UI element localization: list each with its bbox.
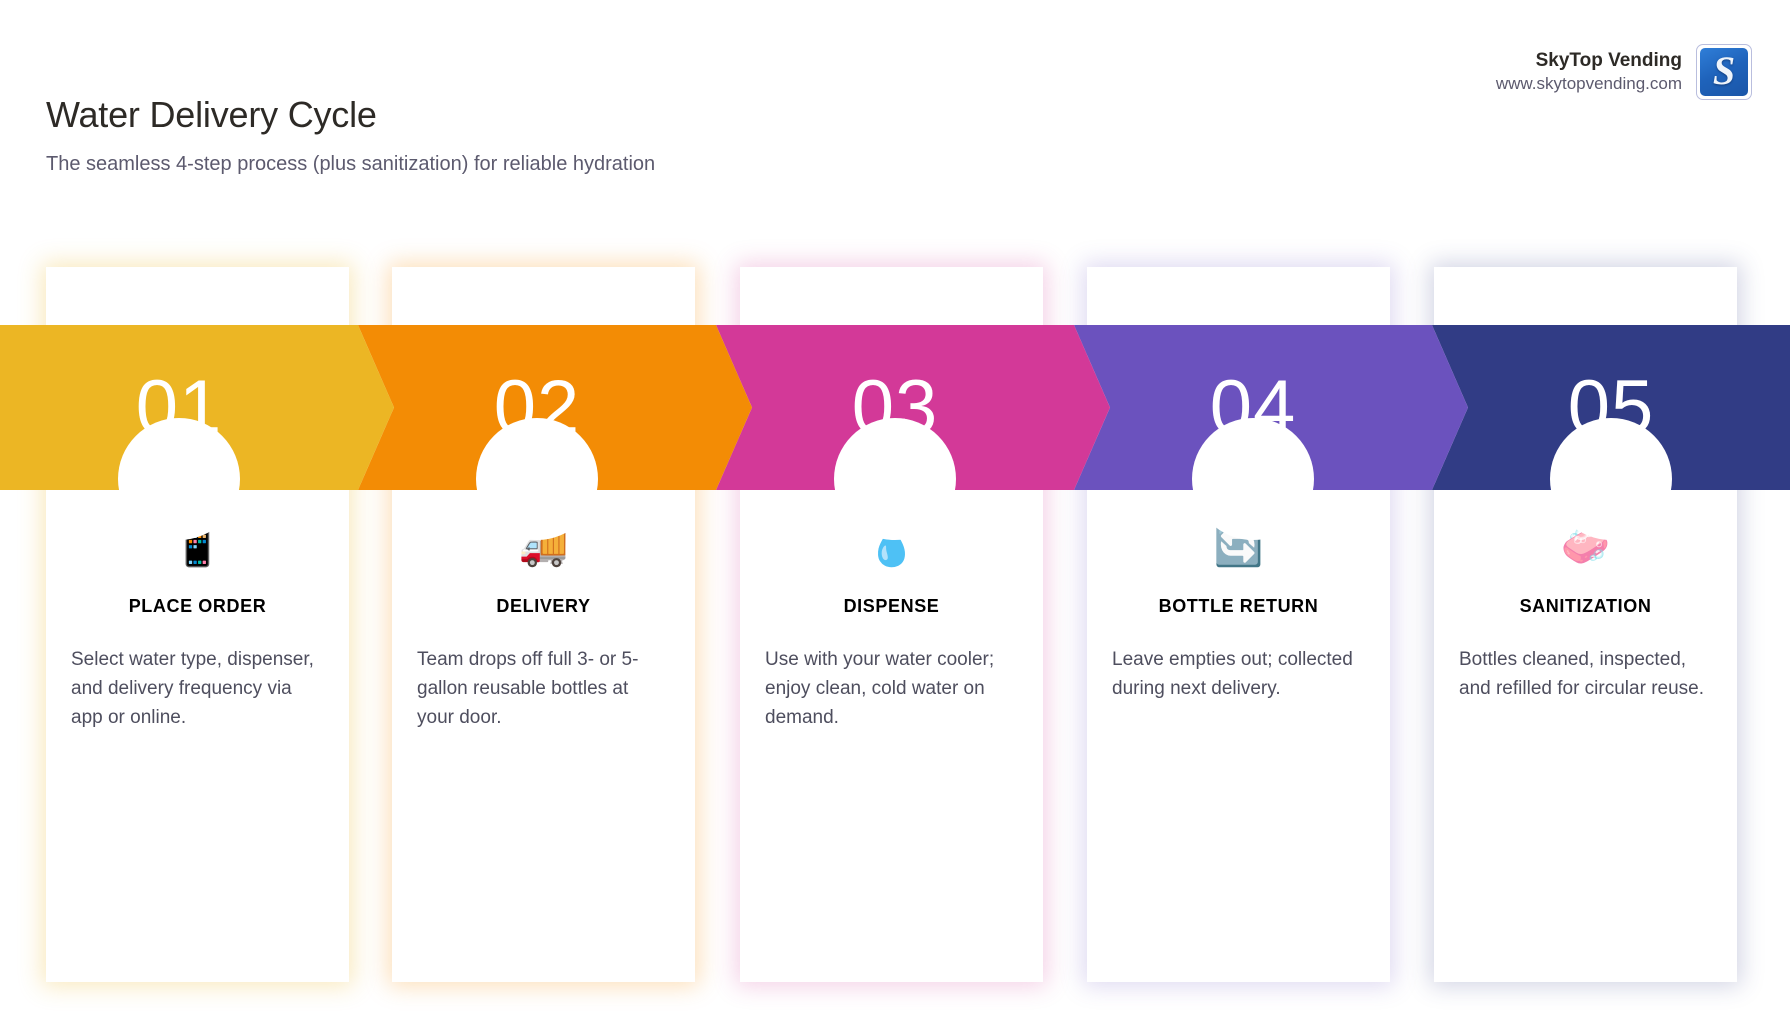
soap-bubbles-icon: 🧼	[1434, 518, 1737, 574]
logo-letter: S	[1713, 51, 1735, 91]
step-card[interactable]: 🚚 DELIVERY Team drops off full 3- or 5-g…	[392, 267, 695, 982]
logo-tile: S	[1700, 48, 1748, 96]
delivery-truck-icon: 🚚	[392, 518, 695, 574]
step-title: BOTTLE RETURN	[1105, 596, 1372, 617]
page-subtitle: The seamless 4-step process (plus saniti…	[46, 148, 686, 180]
water-droplet-icon: 💧	[740, 518, 1043, 574]
step-description: Leave empties out; collected during next…	[1112, 645, 1365, 703]
step-card[interactable]: 💧 DISPENSE Use with your water cooler; e…	[740, 267, 1043, 982]
step-card[interactable]: 📱 PLACE ORDER Select water type, dispens…	[46, 267, 349, 982]
brand-url: www.skytopvending.com	[1496, 73, 1682, 96]
skytop-logo-icon: S	[1696, 44, 1752, 100]
step-description: Select water type, dispenser, and delive…	[71, 645, 324, 732]
step-title: DELIVERY	[410, 596, 677, 617]
step-title: SANITIZATION	[1452, 596, 1719, 617]
step-title: DISPENSE	[758, 596, 1025, 617]
brand-text: SkyTop Vending www.skytopvending.com	[1496, 48, 1682, 97]
step-title: PLACE ORDER	[64, 596, 331, 617]
step-cards: 📱 PLACE ORDER Select water type, dispens…	[0, 267, 1790, 982]
page-title: Water Delivery Cycle	[46, 94, 377, 136]
brand-name: SkyTop Vending	[1496, 48, 1682, 74]
step-card[interactable]: 🧼 SANITIZATION Bottles cleaned, inspecte…	[1434, 267, 1737, 982]
step-description: Use with your water cooler; enjoy clean,…	[765, 645, 1018, 732]
step-card[interactable]: 🔄 BOTTLE RETURN Leave empties out; colle…	[1087, 267, 1390, 982]
recycle-refresh-icon: 🔄	[1087, 518, 1390, 574]
step-description: Bottles cleaned, inspected, and refilled…	[1459, 645, 1712, 703]
mobile-phone-icon: 📱	[46, 518, 349, 574]
brand-block: SkyTop Vending www.skytopvending.com S	[1496, 44, 1752, 100]
step-description: Team drops off full 3- or 5-gallon reusa…	[417, 645, 670, 732]
infographic-page: Water Delivery Cycle The seamless 4-step…	[0, 0, 1790, 1024]
